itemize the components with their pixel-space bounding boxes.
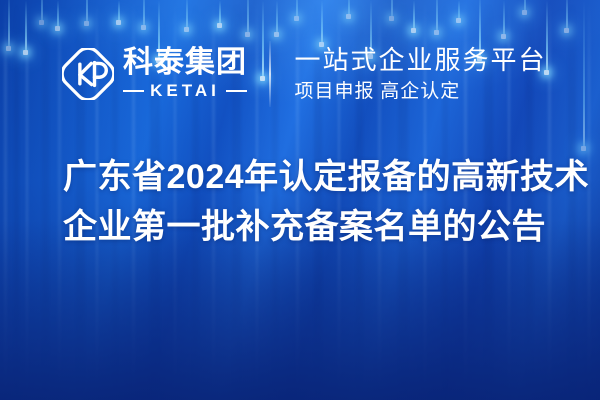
background-stripe bbox=[42, 0, 49, 400]
light-streak bbox=[86, 0, 88, 23]
light-streak-head-icon bbox=[294, 16, 299, 21]
brand-tagline: 一站式企业服务平台 项目申报 高企认定 bbox=[295, 46, 547, 103]
light-streak bbox=[503, 0, 505, 36]
brand-english-name: KETAI bbox=[144, 81, 226, 101]
light-streak-head-icon bbox=[456, 18, 461, 23]
background-stripe bbox=[26, 0, 28, 400]
light-streak-head-icon bbox=[55, 26, 60, 31]
brand-wordmark: 科泰集团 KETAI bbox=[123, 47, 247, 101]
tagline-main: 一站式企业服务平台 bbox=[295, 46, 547, 76]
light-streak-head-icon bbox=[116, 20, 121, 25]
light-streak-head-icon bbox=[6, 46, 11, 51]
background-stripe bbox=[4, 0, 7, 400]
headline-line-1: 广东省2024年认定报备的高新技术 bbox=[63, 152, 563, 202]
light-streak-head-icon bbox=[39, 20, 44, 25]
light-streak-head-icon bbox=[581, 146, 586, 151]
light-streak bbox=[219, 0, 221, 25]
background-stripe bbox=[568, 0, 576, 400]
light-streak bbox=[186, 0, 188, 29]
light-streak bbox=[524, 0, 526, 12]
light-streak bbox=[391, 0, 393, 18]
light-streak-head-icon bbox=[23, 50, 28, 55]
light-streak bbox=[583, 0, 585, 148]
light-streak bbox=[41, 0, 43, 22]
light-streak bbox=[436, 0, 438, 32]
light-streak bbox=[57, 0, 59, 28]
background-stripe bbox=[58, 0, 61, 400]
light-streak-head-icon bbox=[434, 30, 439, 35]
light-streak-head-icon bbox=[411, 28, 416, 33]
brand-chinese-name: 科泰集团 bbox=[123, 47, 247, 78]
light-streak bbox=[25, 0, 27, 52]
header-divider bbox=[269, 41, 271, 107]
light-streak bbox=[8, 0, 10, 48]
light-streak-head-icon bbox=[141, 25, 146, 30]
light-streak bbox=[348, 0, 350, 16]
wordmark-dash-left bbox=[123, 90, 144, 93]
wordmark-dash-right bbox=[226, 90, 247, 93]
page-title: 广东省2024年认定报备的高新技术 企业第一批补充备案名单的公告 bbox=[63, 152, 563, 252]
announcement-banner: 科泰集团 KETAI 一站式企业服务平台 项目申报 高企认定 广东省2024年认… bbox=[0, 0, 600, 400]
headline-line-2: 企业第一批补充备案名单的公告 bbox=[63, 202, 563, 252]
light-streak bbox=[247, 0, 249, 34]
light-streak bbox=[458, 0, 460, 20]
banner-header: 科泰集团 KETAI 一站式企业服务平台 项目申报 高企认定 bbox=[62, 36, 547, 112]
kp-diamond-logo-icon bbox=[62, 48, 114, 100]
light-streak-head-icon bbox=[346, 14, 351, 19]
light-streak-head-icon bbox=[564, 28, 569, 33]
light-streak bbox=[118, 0, 120, 22]
light-streak bbox=[143, 0, 145, 27]
background-stripe bbox=[14, 0, 19, 400]
light-streak bbox=[296, 0, 298, 18]
light-streak bbox=[413, 0, 415, 30]
brand-english-row: KETAI bbox=[123, 81, 247, 101]
brand-logo[interactable]: 科泰集团 KETAI bbox=[62, 47, 247, 101]
light-streak-head-icon bbox=[217, 23, 222, 28]
light-streak-head-icon bbox=[522, 10, 527, 15]
light-streak bbox=[566, 0, 568, 30]
light-streak-head-icon bbox=[84, 21, 89, 26]
light-streak bbox=[276, 0, 278, 34]
light-streak-head-icon bbox=[184, 27, 189, 32]
background-stripe bbox=[588, 0, 590, 400]
tagline-sub: 项目申报 高企认定 bbox=[295, 81, 547, 103]
light-streak-head-icon bbox=[389, 16, 394, 21]
